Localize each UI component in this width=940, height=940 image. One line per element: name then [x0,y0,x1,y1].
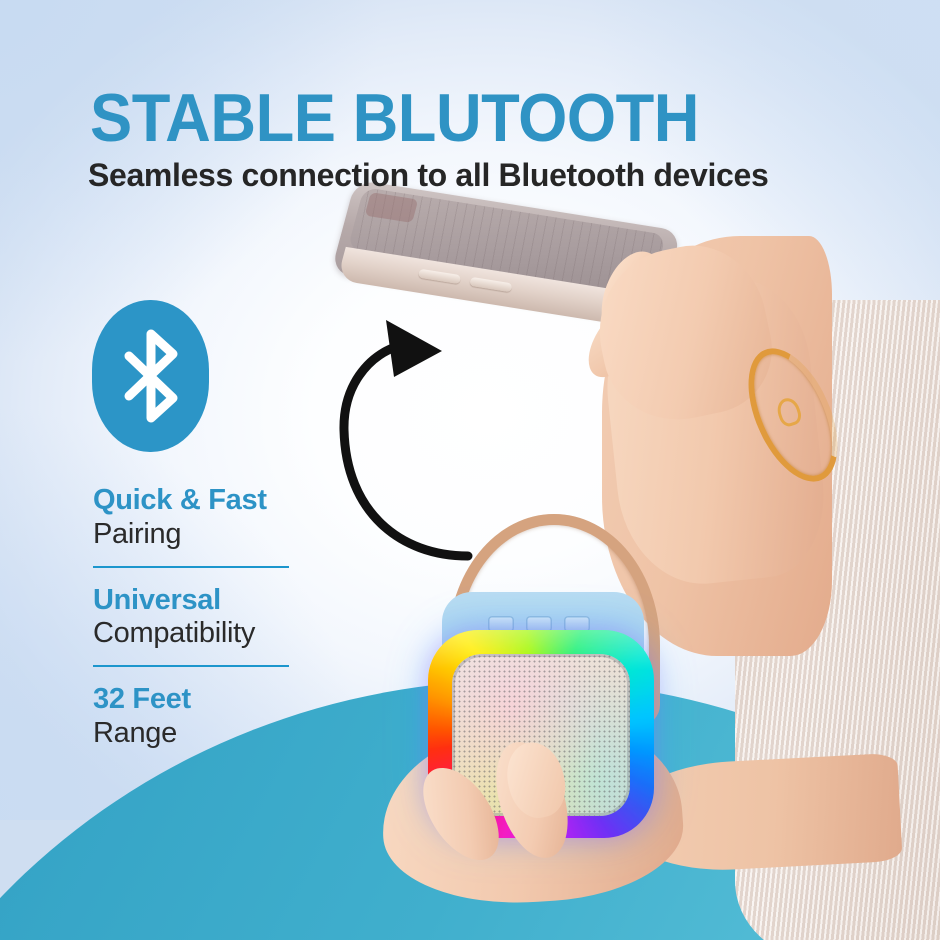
feature-item-1: Universal Compatibility [93,584,293,652]
feature-divider-1 [93,665,289,667]
page-title: STABLE BLUTOOTH [90,86,699,151]
bluetooth-badge [92,300,209,452]
feature-title: 32 Feet [93,683,293,716]
page-subtitle: Seamless connection to all Bluetooth dev… [88,156,768,194]
feature-subtitle: Pairing [93,517,293,552]
curved-connection-arrow [340,320,610,570]
feature-item-0: Quick & Fast Pairing [93,484,293,552]
phone-screen-content [365,192,419,223]
bluetooth-icon [120,328,182,424]
feature-divider-0 [93,566,289,568]
feature-item-2: 32 Feet Range [93,683,293,751]
feature-list: Quick & Fast Pairing Universal Compatibi… [93,484,293,751]
feature-subtitle: Range [93,716,293,751]
feature-title: Quick & Fast [93,484,293,517]
feature-title: Universal [93,584,293,617]
poster-canvas: STABLE BLUTOOTH Seamless connection to a… [0,0,940,940]
feature-subtitle: Compatibility [93,616,293,651]
